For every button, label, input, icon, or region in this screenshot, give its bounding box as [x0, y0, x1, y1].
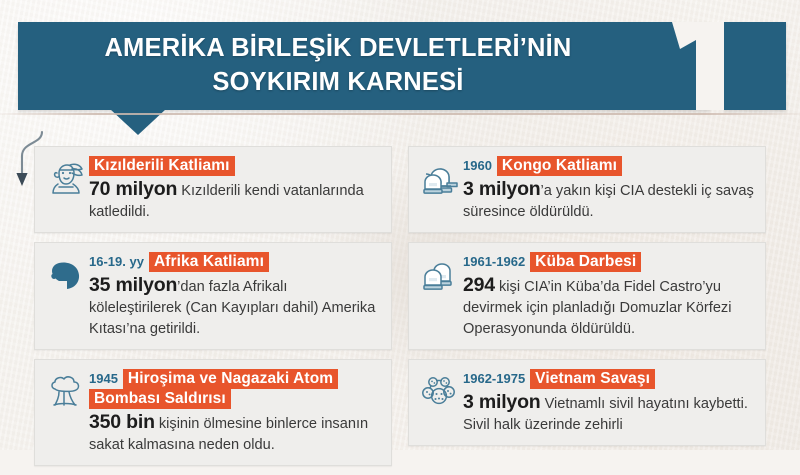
- card-title-row: 1961-1962Küba Darbesi: [463, 252, 755, 272]
- card-date-label: 1962-1975: [463, 371, 525, 386]
- header-banner-right-block: [724, 22, 786, 110]
- card-title-chip: Kızılderili Katliamı: [89, 156, 235, 176]
- card-title-chip: Küba Darbesi: [530, 252, 641, 272]
- card-title-chip: Vietnam Savaşı: [530, 369, 655, 389]
- card-date-label: 1961-1962: [463, 254, 525, 269]
- card-text: 70 milyon Kızılderili kendi vatanlarında…: [89, 179, 381, 223]
- card-text: 35 milyon’dan fazla Afrikalı köleleştiri…: [89, 275, 381, 340]
- card-vietnam-savasi[interactable]: 1962-1975Vietnam Savaşı 3 milyon Vietnam…: [408, 359, 766, 446]
- card-stat: 350 bin: [89, 411, 155, 433]
- card-date-label: 16-19. yy: [89, 254, 144, 269]
- card-body: 1945Hiroşima ve Nagazaki Atom Bombası Sa…: [89, 369, 381, 456]
- gravestones-icon: [417, 252, 463, 296]
- molecule-cluster-icon: [417, 369, 463, 413]
- native-american-head-icon: [43, 156, 89, 200]
- card-body: 1960Kongo Katliamı 3 milyon’a yakın kişi…: [463, 156, 755, 223]
- card-text: 294 kişi CIA’in Küba’da Fidel Castro’yu …: [463, 275, 755, 340]
- page-title: AMERİKA BİRLEŞİK DEVLETLERİ’NİN SOYKIRIM…: [18, 31, 658, 99]
- gravestones-icon: [417, 156, 463, 200]
- mushroom-cloud-icon: [43, 369, 89, 413]
- card-title-chip: Afrika Katliamı: [149, 252, 269, 272]
- left-column: Kızılderili Katliamı 70 milyon Kızılderi…: [34, 146, 392, 475]
- header-banner: AMERİKA BİRLEŞİK DEVLETLERİ’NİN SOYKIRIM…: [0, 22, 800, 114]
- card-text: 3 milyon’a yakın kişi CIA destekli iç sa…: [463, 179, 755, 223]
- card-title-row: 1960Kongo Katliamı: [463, 156, 755, 176]
- card-stat: 70 milyon: [89, 178, 177, 200]
- card-text: 350 bin kişinin ölmesine binlerce insanı…: [89, 412, 381, 456]
- card-date-label: 1945: [89, 371, 118, 386]
- card-description: kişi CIA’in Küba’da Fidel Castro’yu devi…: [463, 279, 731, 337]
- card-text: 3 milyon Vietnamlı sivil hayatını kaybet…: [463, 392, 755, 436]
- card-kizilderili-katliami[interactable]: Kızılderili Katliamı 70 milyon Kızılderi…: [34, 146, 392, 233]
- card-kongo-katliami[interactable]: 1960Kongo Katliamı 3 milyon’a yakın kişi…: [408, 146, 766, 233]
- card-stat: 294: [463, 274, 495, 296]
- card-title-row: 1962-1975Vietnam Savaşı: [463, 369, 755, 389]
- card-afrika-katliami[interactable]: 16-19. yyAfrika Katliamı 35 milyon’dan f…: [34, 242, 392, 350]
- right-column: 1960Kongo Katliamı 3 milyon’a yakın kişi…: [408, 146, 766, 455]
- card-title-chip: Kongo Katliamı: [497, 156, 622, 176]
- page-title-line-1: AMERİKA BİRLEŞİK DEVLETLERİ’NİN: [18, 31, 658, 65]
- page-title-line-2: SOYKIRIM KARNESİ: [18, 65, 658, 99]
- card-title-row: 1945Hiroşima ve Nagazaki Atom Bombası Sa…: [89, 369, 381, 409]
- card-body: 16-19. yyAfrika Katliamı 35 milyon’dan f…: [89, 252, 381, 340]
- card-title-row: Kızılderili Katliamı: [89, 156, 381, 176]
- card-body: 1962-1975Vietnam Savaşı 3 milyon Vietnam…: [463, 369, 755, 436]
- card-stat: 3 milyon: [463, 178, 541, 200]
- card-title-row: 16-19. yyAfrika Katliamı: [89, 252, 381, 272]
- card-kuba-darbesi[interactable]: 1961-1962Küba Darbesi 294 kişi CIA’in Kü…: [408, 242, 766, 350]
- card-body: 1961-1962Küba Darbesi 294 kişi CIA’in Kü…: [463, 252, 755, 340]
- card-body: Kızılderili Katliamı 70 milyon Kızılderi…: [89, 156, 381, 223]
- header-numeral-one: [660, 22, 724, 110]
- card-stat: 35 milyon: [89, 274, 177, 296]
- card-title-chip: Hiroşima ve Nagazaki Atom Bombası Saldır…: [89, 369, 338, 409]
- head-silhouette-icon: [43, 252, 89, 296]
- card-stat: 3 milyon: [463, 391, 541, 413]
- header-divider-rule: [0, 113, 800, 115]
- card-date-label: 1960: [463, 158, 492, 173]
